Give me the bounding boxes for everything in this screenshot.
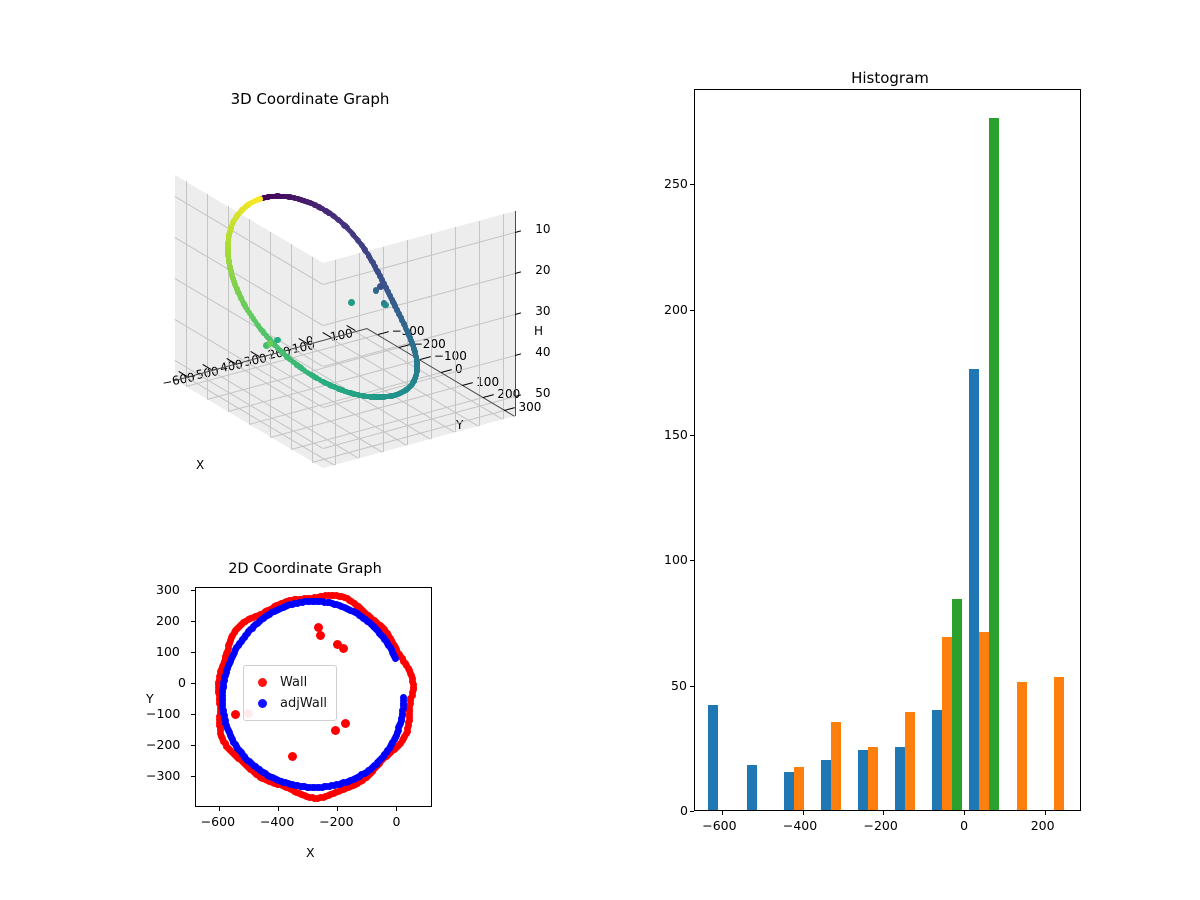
plot-2d-ytick-0: 0 xyxy=(178,675,186,690)
plot-2d-legend: Wall adjWall xyxy=(243,665,337,721)
plot-2d-ytick--100: −100 xyxy=(146,706,180,721)
histogram-title: Histogram xyxy=(695,69,1085,87)
histogram-ytick-mark xyxy=(690,686,694,687)
histogram-ytick-150: 150 xyxy=(664,427,688,442)
histogram-ytick-50: 50 xyxy=(671,678,687,693)
plot-2d-outlier-wall xyxy=(341,719,350,728)
histogram-ytick-250: 250 xyxy=(664,176,688,191)
plot-2d-xtick-mark xyxy=(278,807,279,811)
plot-2d-outlier-wall xyxy=(231,710,240,719)
histogram-xtick-mark xyxy=(803,811,804,815)
plot-2d-ytick-300: 300 xyxy=(156,582,180,597)
plot-3d-zlabel: H xyxy=(534,324,543,338)
histogram-ytick-200: 200 xyxy=(664,302,688,317)
plot-2d-title: 2D Coordinate Graph xyxy=(160,561,450,577)
legend-marker-adjwall xyxy=(258,699,267,708)
plot-2d-coordinate-graph: 2D Coordinate Graph −600−400−2000−300−20… xyxy=(120,555,500,875)
plot-2d-outlier-wall xyxy=(339,644,348,653)
plot-3d-outlier-point xyxy=(267,340,274,347)
plot-2d-ytick-mark xyxy=(191,652,195,653)
histogram-ytick-0: 0 xyxy=(680,803,688,818)
plot-2d-xtick-0: 0 xyxy=(392,814,400,829)
plot-2d-xtick--400: −400 xyxy=(260,814,294,829)
plot-3d-ztick-20: 20 xyxy=(535,263,550,277)
histogram-bar xyxy=(895,747,905,810)
plot-2d-xtick--600: −600 xyxy=(201,814,235,829)
histogram-bar xyxy=(1017,682,1027,810)
histogram-bar xyxy=(932,710,942,810)
plot-2d-ytick-mark xyxy=(191,621,195,622)
histogram-xtick--200: −200 xyxy=(863,818,897,833)
legend-label-adjwall: adjWall xyxy=(280,696,327,711)
plot-2d-xlabel: X xyxy=(306,845,315,860)
histogram-bar xyxy=(858,750,868,810)
histogram-bar xyxy=(1054,677,1064,810)
histogram-bar xyxy=(942,637,952,810)
plot-2d-outlier-wall xyxy=(331,726,340,735)
plot-2d-ytick-100: 100 xyxy=(156,644,180,659)
plot-2d-ytick--300: −300 xyxy=(146,768,180,783)
histogram-xtick--600: −600 xyxy=(702,818,736,833)
histogram-ytick-mark xyxy=(690,310,694,311)
histogram-bar xyxy=(794,767,804,810)
plot-2d-ytick-mark xyxy=(191,745,195,746)
histogram-xtick--400: −400 xyxy=(783,818,817,833)
histogram-bar xyxy=(831,722,841,810)
plot-3d-ztick-10: 10 xyxy=(535,222,550,236)
histogram-xtick-0: 0 xyxy=(960,818,968,833)
plot-3d-xlabel: X xyxy=(196,458,204,472)
plot-2d-ytick-mark xyxy=(191,714,195,715)
plot-2d-ytick-mark xyxy=(191,590,195,591)
plot-3d-ztick-40: 40 xyxy=(535,345,550,359)
legend-entry-adjwall: adjWall xyxy=(251,693,327,714)
legend-entry-wall: Wall xyxy=(251,672,327,693)
plot-2d-xtick-mark xyxy=(219,807,220,811)
histogram-ytick-mark xyxy=(690,560,694,561)
histogram-bar xyxy=(905,712,915,810)
plot-2d-xtick--200: −200 xyxy=(319,814,353,829)
plot-2d-ylabel: Y xyxy=(146,691,154,706)
plot-2d-ytick-mark xyxy=(191,683,195,684)
histogram-xtick-mark xyxy=(883,811,884,815)
plot-2d-xtick-mark xyxy=(396,807,397,811)
histogram-bar xyxy=(784,772,794,810)
histogram-bars xyxy=(695,90,1080,810)
histogram-bar xyxy=(952,599,962,810)
histogram-ytick-mark xyxy=(690,435,694,436)
plot-3d-point xyxy=(257,196,262,201)
plot-3d-outlier-point xyxy=(348,299,355,306)
plot-2d-ytick--200: −200 xyxy=(146,737,180,752)
histogram-bar xyxy=(708,705,718,810)
histogram-ytick-mark xyxy=(690,811,694,812)
histogram-bar xyxy=(979,632,989,810)
histogram-xtick-mark xyxy=(1045,811,1046,815)
plot-2d-xtick-mark xyxy=(337,807,338,811)
histogram-bar xyxy=(868,747,878,810)
plot-2d-point-wall xyxy=(407,695,414,702)
histogram-ytick-100: 100 xyxy=(664,552,688,567)
plot-histogram: Histogram −600−400−200020005010015020025… xyxy=(640,60,1200,860)
histogram-bar xyxy=(989,118,999,810)
histogram-ytick-mark xyxy=(690,184,694,185)
legend-marker-wall xyxy=(258,678,267,687)
plot-3d-ztick-30: 30 xyxy=(535,304,550,318)
histogram-axes-frame xyxy=(694,89,1081,811)
histogram-bar xyxy=(821,760,831,810)
plot-2d-ytick-mark xyxy=(191,776,195,777)
plot-3d-outlier-point xyxy=(373,287,380,294)
plot-3d-canvas: −600−500−400−300−200−1000100−300−200−100… xyxy=(0,60,620,530)
plot-3d-coordinate-graph: 3D Coordinate Graph −600−500−400−300−200… xyxy=(0,60,620,530)
histogram-xtick-mark xyxy=(964,811,965,815)
plot-3d-ytick-300: 300 xyxy=(518,400,541,414)
plot-2d-ytick-200: 200 xyxy=(156,613,180,628)
histogram-bar xyxy=(969,369,979,810)
legend-label-wall: Wall xyxy=(280,675,307,690)
histogram-xtick-200: 200 xyxy=(1031,818,1055,833)
histogram-xtick-mark xyxy=(722,811,723,815)
histogram-bar xyxy=(747,765,757,810)
plot-3d-ztick-50: 50 xyxy=(535,386,550,400)
